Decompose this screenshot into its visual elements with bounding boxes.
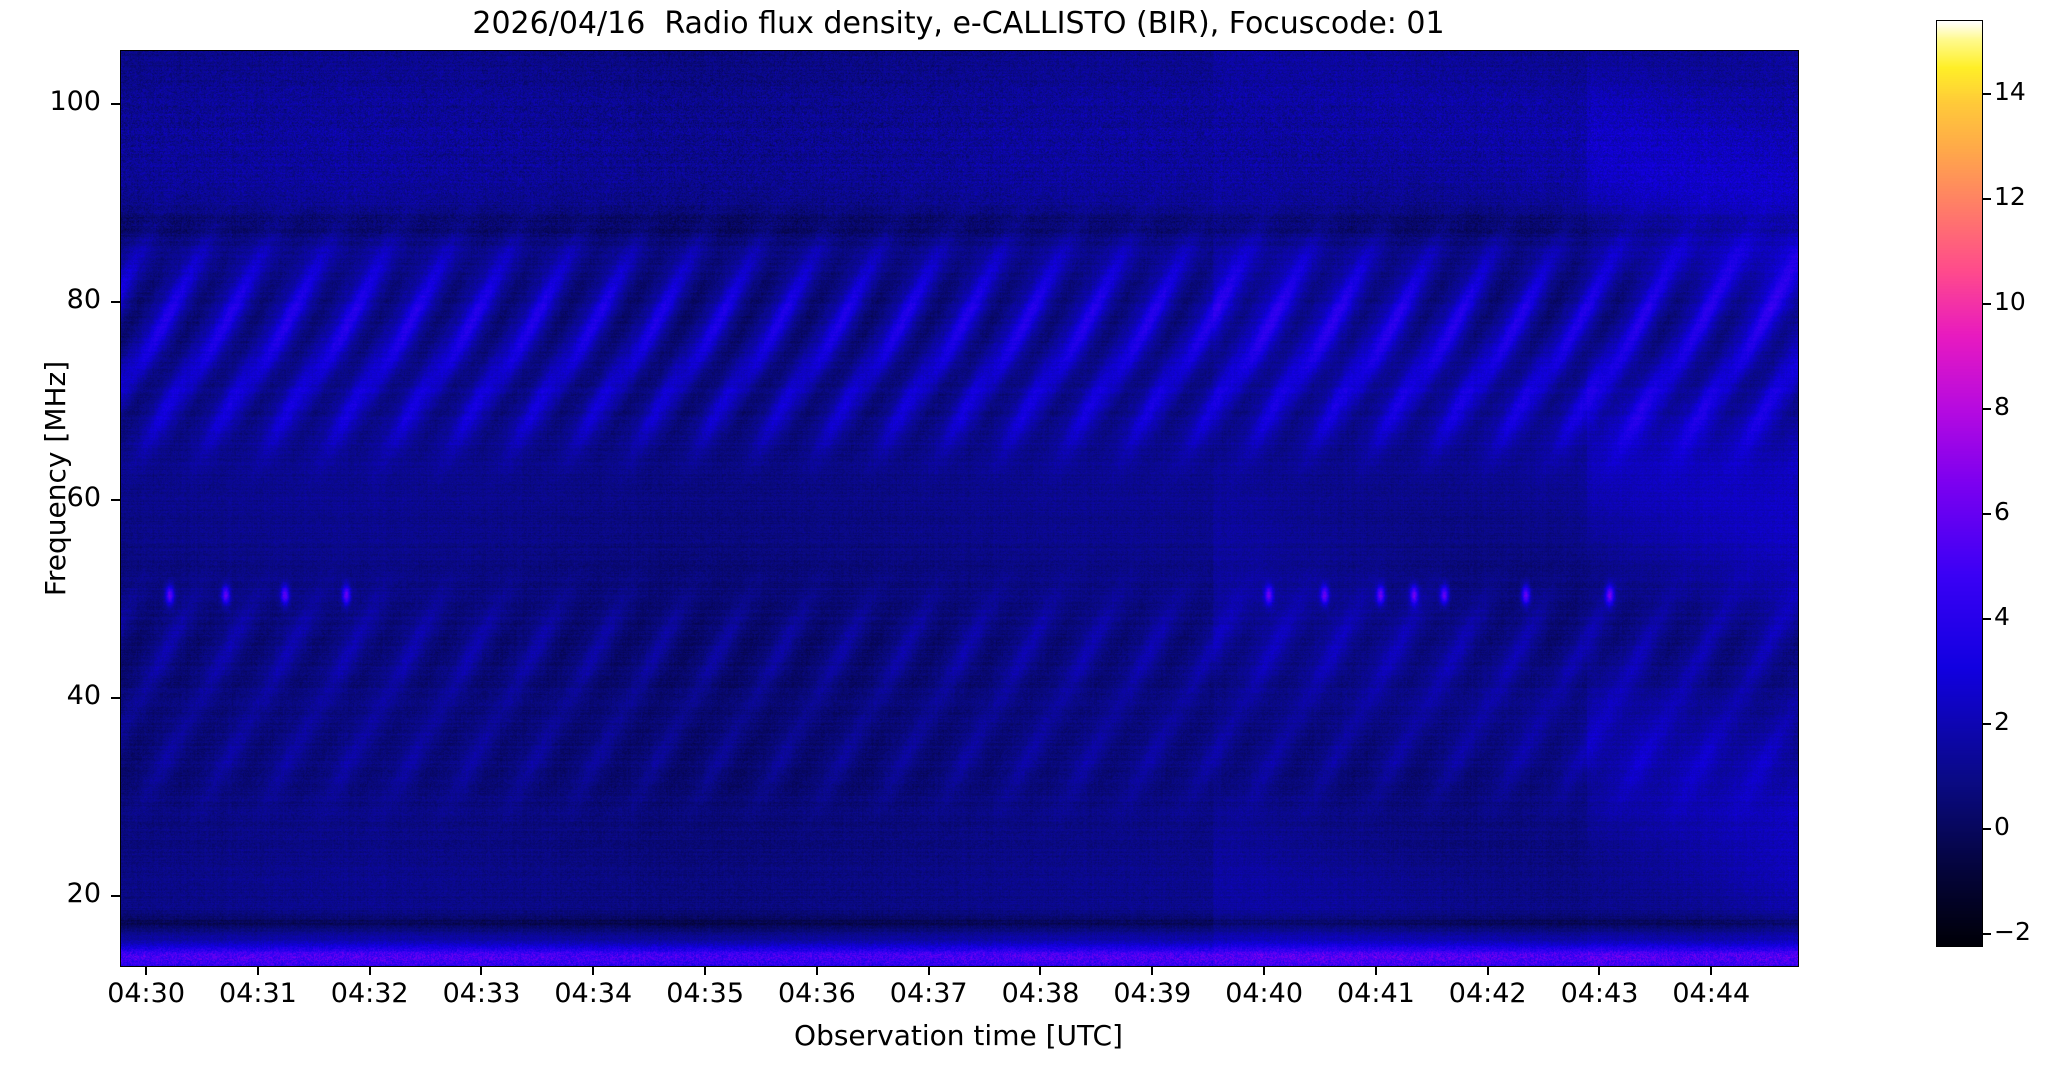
y-tick-label: 80 — [0, 284, 101, 315]
x-tick-mark — [592, 966, 594, 975]
colorbar-tick-mark — [1982, 513, 1991, 515]
x-tick-label: 04:44 — [1631, 978, 1791, 1009]
colorbar-tick-label: 0 — [1994, 812, 2010, 841]
colorbar-tick-mark — [1982, 618, 1991, 620]
page-title: 2026/04/16 Radio flux density, e-CALLIST… — [120, 4, 1797, 44]
colorbar-gradient — [1937, 21, 1982, 946]
x-tick-mark — [1375, 966, 1377, 975]
y-tick-mark — [111, 499, 120, 501]
y-tick-mark — [111, 697, 120, 699]
x-tick-mark — [1263, 966, 1265, 975]
colorbar-tick-mark — [1982, 93, 1991, 95]
x-tick-mark — [145, 966, 147, 975]
y-tick-mark — [111, 895, 120, 897]
y-tick-mark — [111, 103, 120, 105]
figure-canvas: 2026/04/16 Radio flux density, e-CALLIST… — [0, 0, 2066, 1067]
colorbar-tick-label: 12 — [1994, 182, 2026, 211]
y-tick-label: 40 — [0, 680, 101, 711]
colorbar-tick-mark — [1982, 828, 1991, 830]
x-tick-mark — [1710, 966, 1712, 975]
y-axis-label: Frequency [MHz] — [39, 21, 72, 936]
colorbar-tick-label: −2 — [1994, 917, 2031, 946]
colorbar-tick-label: 2 — [1994, 707, 2010, 736]
colorbar-tick-label: 10 — [1994, 287, 2026, 316]
colorbar-tick-mark — [1982, 408, 1991, 410]
x-axis-label: Observation time [UTC] — [120, 1019, 1797, 1052]
colorbar[interactable] — [1936, 20, 1983, 947]
x-tick-mark — [257, 966, 259, 975]
colorbar-tick-label: 8 — [1994, 392, 2010, 421]
x-tick-mark — [369, 966, 371, 975]
x-tick-mark — [816, 966, 818, 975]
colorbar-tick-mark — [1982, 723, 1991, 725]
colorbar-tick-mark — [1982, 303, 1991, 305]
y-tick-mark — [111, 301, 120, 303]
x-tick-mark — [704, 966, 706, 975]
colorbar-tick-label: 6 — [1994, 497, 2010, 526]
spectrogram-image — [121, 51, 1798, 966]
x-tick-mark — [1151, 966, 1153, 975]
x-tick-mark — [1598, 966, 1600, 975]
y-tick-label: 60 — [0, 482, 101, 513]
spectrogram-axes[interactable] — [120, 50, 1799, 967]
y-tick-label: 100 — [0, 86, 101, 117]
x-tick-mark — [1487, 966, 1489, 975]
colorbar-tick-mark — [1982, 198, 1991, 200]
x-tick-mark — [1039, 966, 1041, 975]
colorbar-tick-mark — [1982, 933, 1991, 935]
y-tick-label: 20 — [0, 878, 101, 909]
x-tick-mark — [928, 966, 930, 975]
colorbar-tick-label: 4 — [1994, 602, 2010, 631]
x-tick-mark — [480, 966, 482, 975]
colorbar-tick-label: 14 — [1994, 77, 2026, 106]
